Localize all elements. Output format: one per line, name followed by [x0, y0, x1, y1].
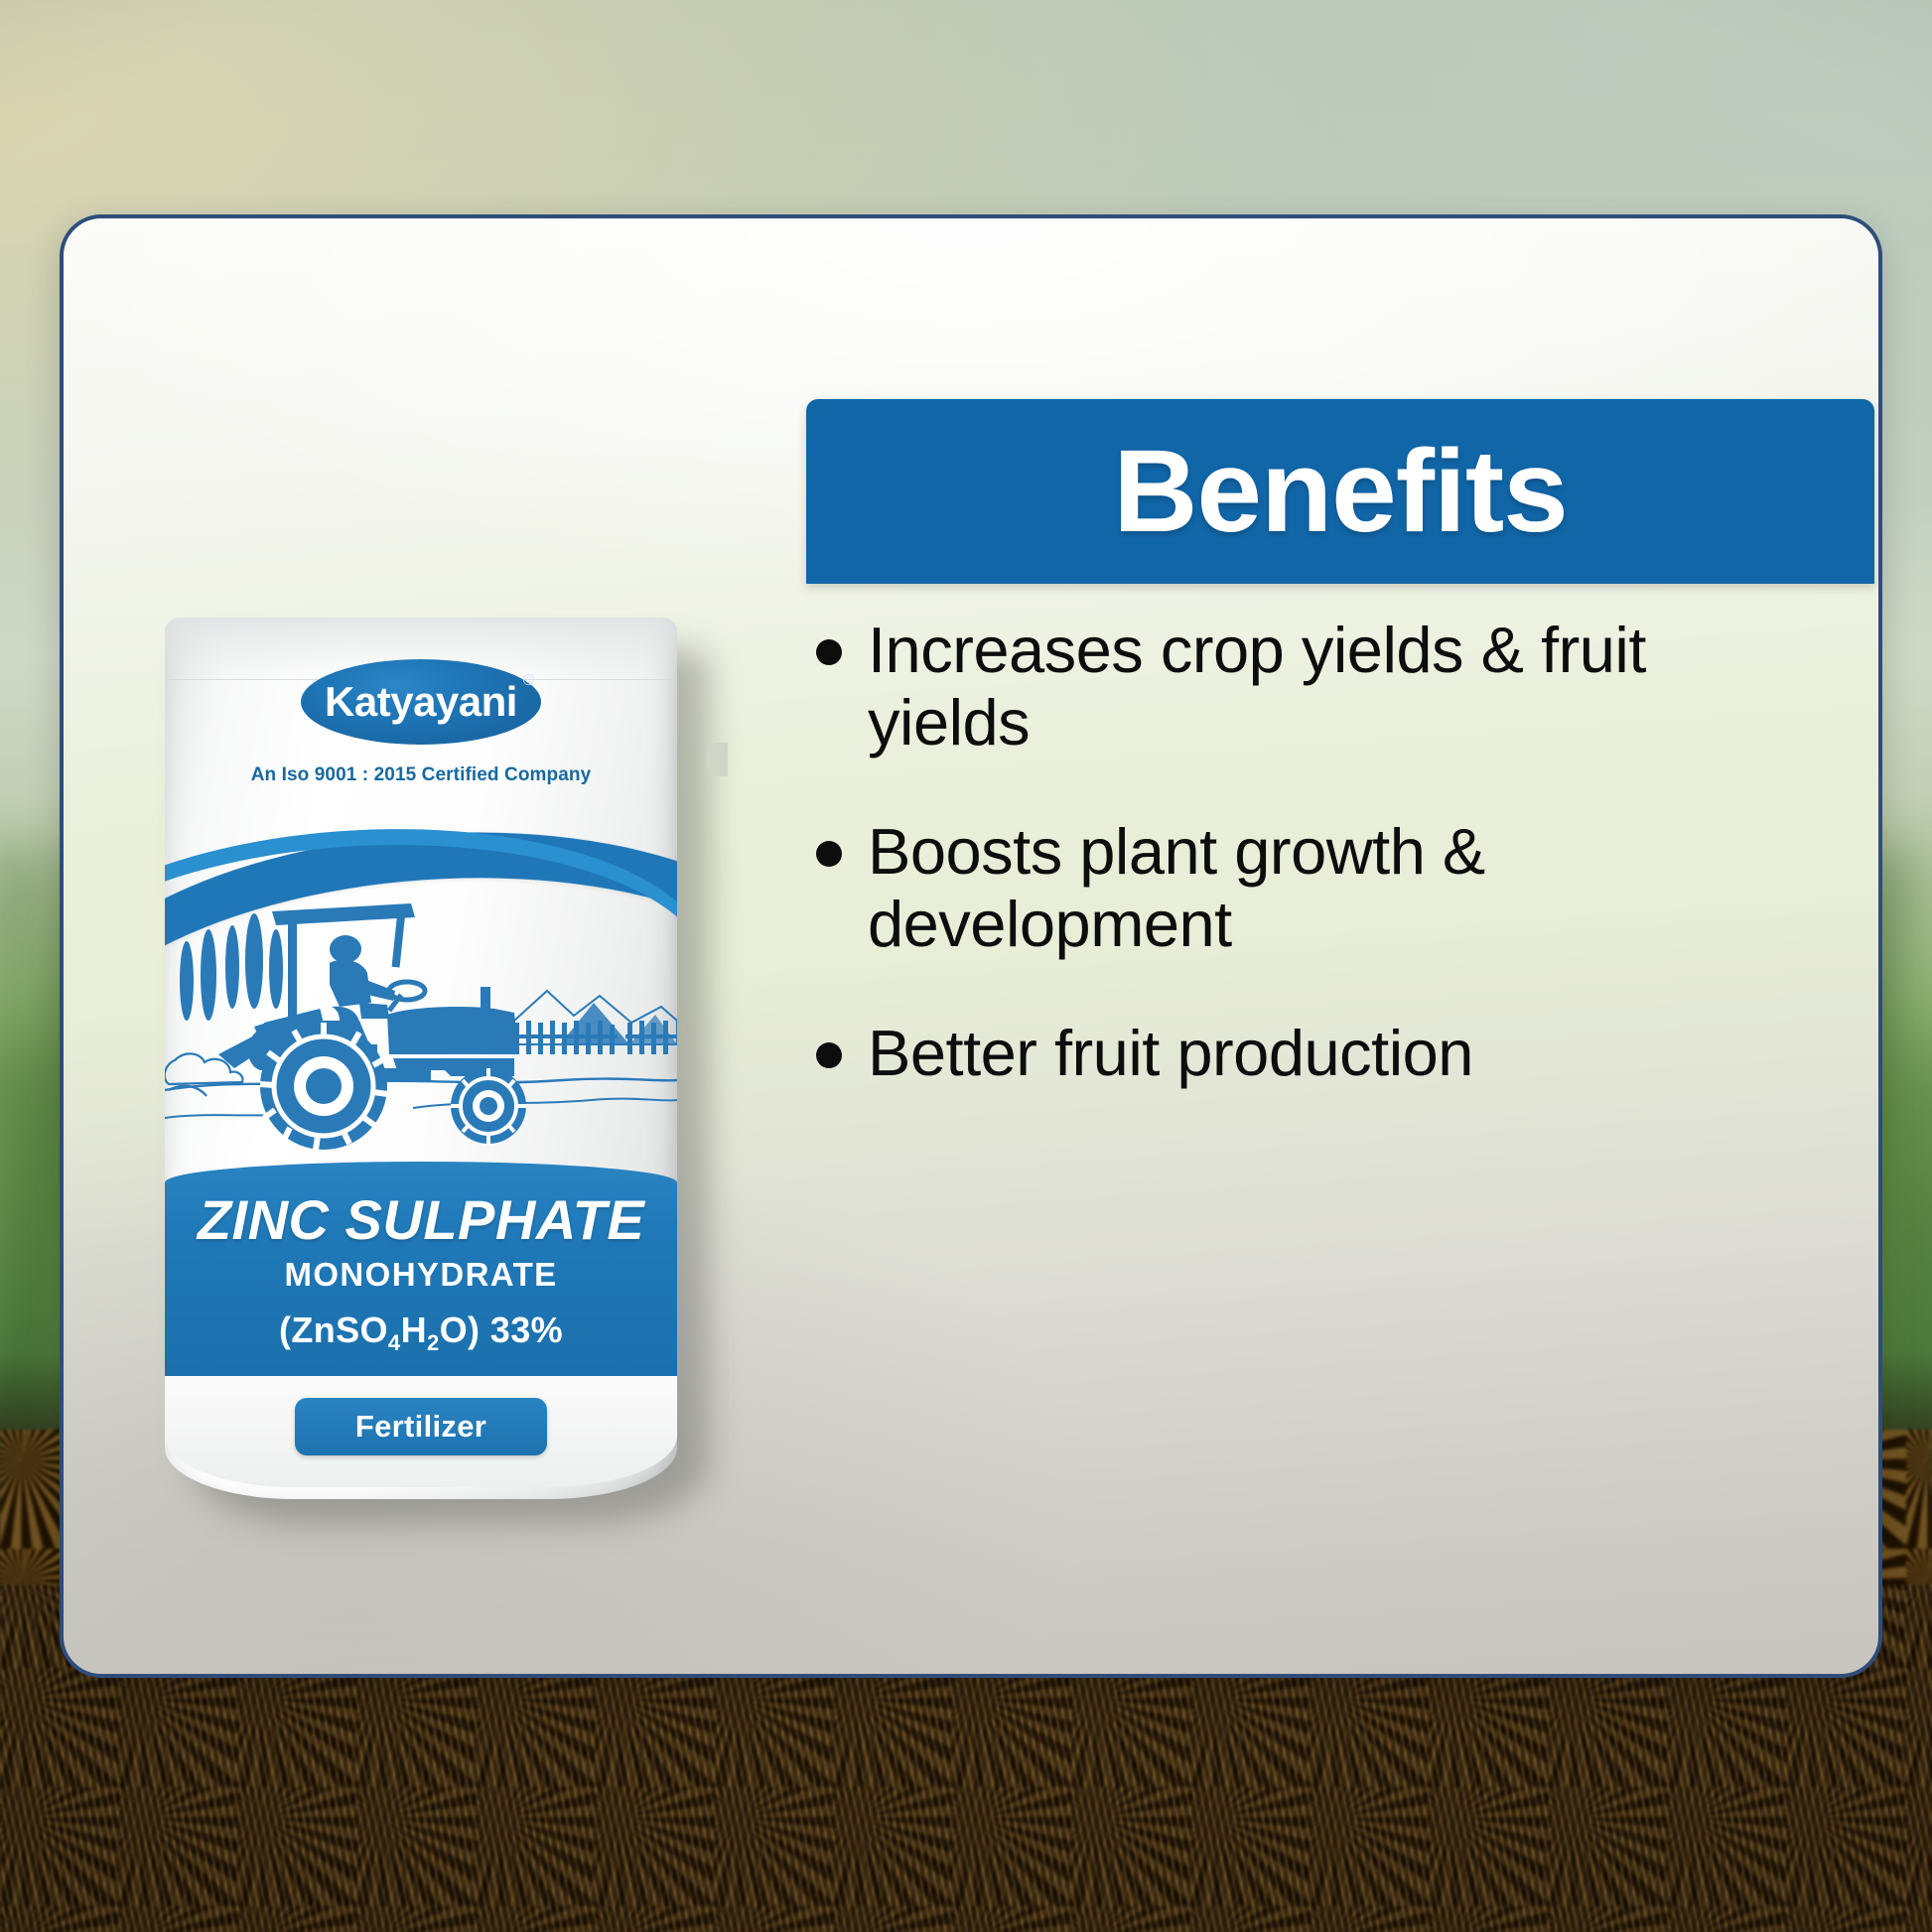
banner-title: Benefits	[1113, 433, 1568, 550]
benefit-text: Better fruit production	[868, 1017, 1473, 1089]
bullet-dot-icon	[816, 639, 842, 665]
product-title: ZINC SULPHATE	[165, 1187, 677, 1252]
benefit-item: Boosts plant growth & development	[816, 815, 1870, 961]
benefit-item: Increases crop yields & fruit yields	[816, 614, 1870, 759]
category-badge: Fertilizer	[295, 1398, 547, 1455]
product-label-block: ZINC SULPHATE MONOHYDRATE (ZnSO4H2O) 33%	[165, 1162, 677, 1376]
iso-certification-text: An Iso 9001 : 2015 Certified Company	[165, 764, 677, 786]
bullet-dot-icon	[816, 841, 842, 867]
brand-logo: Katyayani©	[301, 659, 541, 745]
tractor-scene-icon	[165, 896, 677, 1162]
formula-prefix: (ZnSO	[279, 1310, 388, 1350]
package-front: Katyayani© An Iso 9001 : 2015 Certified …	[165, 618, 677, 1499]
benefit-text: Boosts plant growth & development	[868, 815, 1821, 961]
brand-name: Katyayani	[325, 678, 517, 725]
poster-canvas: Benefits Increases crop yields & fruit y…	[0, 0, 1932, 1932]
formula-suffix: O) 33%	[440, 1310, 563, 1350]
brand-name-wrap: Katyayani©	[325, 678, 517, 726]
benefit-item: Better fruit production	[816, 1017, 1870, 1089]
product-formula: (ZnSO4H2O) 33%	[165, 1310, 677, 1356]
benefit-text: Increases crop yields & fruit yields	[868, 614, 1821, 759]
formula-mid: H	[401, 1310, 427, 1350]
formula-sub-2: 2	[427, 1330, 440, 1355]
product-package: Katyayani© An Iso 9001 : 2015 Certified …	[163, 618, 719, 1531]
product-subtitle: MONOHYDRATE	[165, 1256, 677, 1294]
category-label: Fertilizer	[355, 1409, 486, 1445]
copyright-icon: ©	[523, 672, 534, 690]
package-tear-notch	[706, 743, 728, 776]
benefits-list: Increases crop yields & fruit yields Boo…	[816, 614, 1870, 1145]
bullet-dot-icon	[816, 1042, 842, 1068]
tractor-illustration	[165, 896, 677, 1162]
content-card: Benefits Increases crop yields & fruit y…	[60, 214, 1882, 1678]
benefits-banner: Benefits	[806, 399, 1874, 584]
formula-sub-1: 4	[388, 1330, 401, 1355]
